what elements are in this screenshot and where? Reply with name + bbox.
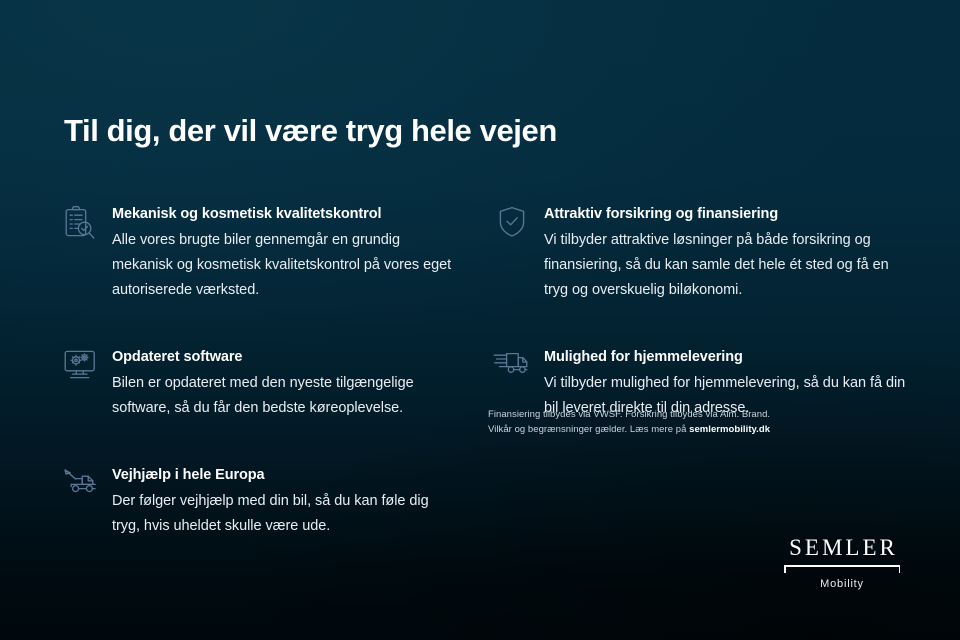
logo-rule-divider (784, 565, 900, 574)
logo-wordmark: SEMLER (782, 535, 902, 561)
feature-text: Opdateret software Bilen er opdateret me… (104, 347, 456, 421)
feature-column-left: Mekanisk og kosmetisk kvalitetskontrol A… (56, 204, 456, 561)
feature-body: Vi tilbyder attraktive løsninger på både… (544, 228, 908, 303)
clipboard-magnifier-icon (56, 204, 104, 242)
logo-rule-cap-right (899, 565, 901, 573)
feature-body: Der følger vejhjælp med din bil, så du k… (112, 489, 456, 539)
feature-body: Alle vores brugte biler gennemgår en gru… (112, 228, 456, 303)
tow-truck-icon (56, 465, 104, 503)
logo-rule-cap-left (784, 565, 786, 573)
delivery-truck-icon (488, 347, 536, 385)
semler-mobility-logo: SEMLER Mobility (782, 535, 902, 592)
feature-title: Mulighed for hjemmelevering (544, 347, 908, 367)
logo-rule-bar (784, 565, 900, 567)
feature-item-forsikring: Attraktiv forsikring og finansiering Vi … (488, 204, 908, 303)
feature-title: Attraktiv forsikring og finansiering (544, 204, 908, 224)
shield-check-icon (488, 204, 536, 242)
feature-title: Mekanisk og kosmetisk kvalitetskontrol (112, 204, 456, 224)
feature-text: Vejhjælp i hele Europa Der følger vejhjæ… (104, 465, 456, 539)
feature-item-kvalitetskontrol: Mekanisk og kosmetisk kvalitetskontrol A… (56, 204, 456, 303)
feature-body: Bilen er opdateret med den nyeste tilgæn… (112, 371, 456, 421)
slide-canvas: Til dig, der vil være tryg hele vejen (0, 0, 960, 640)
disclaimer-line-1: Finansiering tilbydes via VWSF. Forsikri… (488, 407, 828, 422)
disclaimer: Finansiering tilbydes via VWSF. Forsikri… (488, 407, 828, 437)
spacer (56, 325, 456, 347)
logo-subtitle: Mobility (782, 577, 902, 592)
disclaimer-link[interactable]: semlermobility.dk (689, 424, 770, 435)
feature-text: Mekanisk og kosmetisk kvalitetskontrol A… (104, 204, 456, 303)
feature-title: Opdateret software (112, 347, 456, 367)
spacer (488, 325, 908, 347)
disclaimer-line-2: Vilkår og begrænsninger gælder. Læs mere… (488, 422, 828, 437)
feature-text: Attraktiv forsikring og finansiering Vi … (536, 204, 908, 303)
page-title: Til dig, der vil være tryg hele vejen (64, 113, 557, 149)
spacer (56, 443, 456, 465)
feature-title: Vejhjælp i hele Europa (112, 465, 456, 485)
disclaimer-line-2-text: Vilkår og begrænsninger gælder. Læs mere… (488, 424, 689, 435)
feature-item-vejhjaelp: Vejhjælp i hele Europa Der følger vejhjæ… (56, 465, 456, 539)
monitor-gears-icon (56, 347, 104, 385)
feature-item-software: Opdateret software Bilen er opdateret me… (56, 347, 456, 421)
